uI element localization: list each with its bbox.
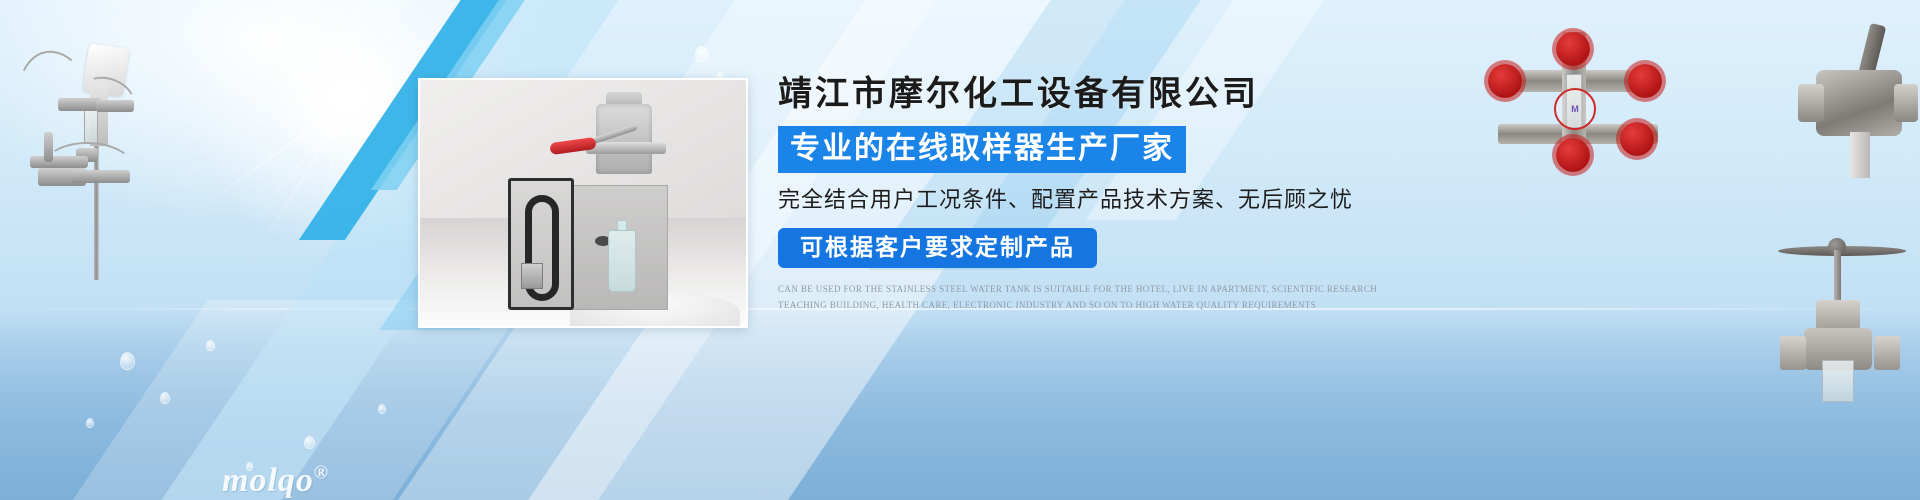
sub-headline: 完全结合用户工况条件、配置产品技术方案、无后顾之忧 [778, 186, 1398, 214]
company-name: 靖江市摩尔化工设备有限公司 [778, 76, 1398, 113]
lever-valve-body [1816, 70, 1902, 136]
cabinet-door [508, 178, 574, 310]
water-droplet-icon [120, 352, 135, 370]
valve-flange [586, 142, 666, 154]
product-image-sampler-left [10, 22, 160, 280]
door-latch [521, 263, 543, 289]
water-droplet-icon [86, 418, 94, 428]
promo-banner: M 靖江市摩尔化工设备有限公司 专业的在线取样器生产厂家 完全结合用户工况条件、… [0, 0, 1920, 500]
gate-valve-flange-left [1780, 336, 1806, 370]
water-droplet-icon [206, 340, 215, 351]
product-image-lever-valve [1798, 28, 1918, 178]
valve-handwheel-left [1488, 64, 1522, 98]
water-droplet-icon [304, 436, 315, 449]
gate-valve-bonnet [1816, 300, 1860, 330]
registered-mark-icon: ® [314, 463, 329, 484]
water-droplet-icon [378, 404, 386, 414]
watermark-text: molqo [222, 462, 314, 499]
banner-text-block: 靖江市摩尔化工设备有限公司 专业的在线取样器生产厂家 完全结合用户工况条件、配置… [778, 76, 1398, 313]
valve-handwheel-lower-right [1620, 122, 1654, 156]
gate-valve-flange-right [1874, 336, 1900, 370]
sample-bottle [608, 230, 636, 292]
product-image-gate-valve [1760, 232, 1920, 404]
product-image-valve-manifold: M [1478, 26, 1678, 156]
product-photo-sampling-cabinet [418, 78, 748, 328]
valve-handwheel-top [1556, 32, 1590, 66]
cta-custom-product[interactable]: 可根据客户要求定制产品 [778, 228, 1097, 268]
watermark-logo: molqo® [222, 462, 329, 500]
manifold-brand-logo: M [1554, 88, 1596, 130]
water-droplet-icon [160, 392, 170, 404]
headline-banner: 专业的在线取样器生产厂家 [778, 126, 1186, 173]
lever-valve-flange-left [1798, 84, 1824, 122]
valve-handwheel-bottom [1556, 138, 1590, 172]
english-description: CAN BE USED FOR THE STAINLESS STEEL WATE… [778, 282, 1388, 313]
gate-valve-sight-glass [1822, 360, 1854, 402]
lever-valve-flange-right [1894, 84, 1918, 122]
water-droplet-icon [695, 46, 708, 62]
product-photo-inner [420, 80, 746, 326]
lever-valve-outlet [1850, 132, 1870, 178]
valve-handwheel-right [1628, 64, 1662, 98]
